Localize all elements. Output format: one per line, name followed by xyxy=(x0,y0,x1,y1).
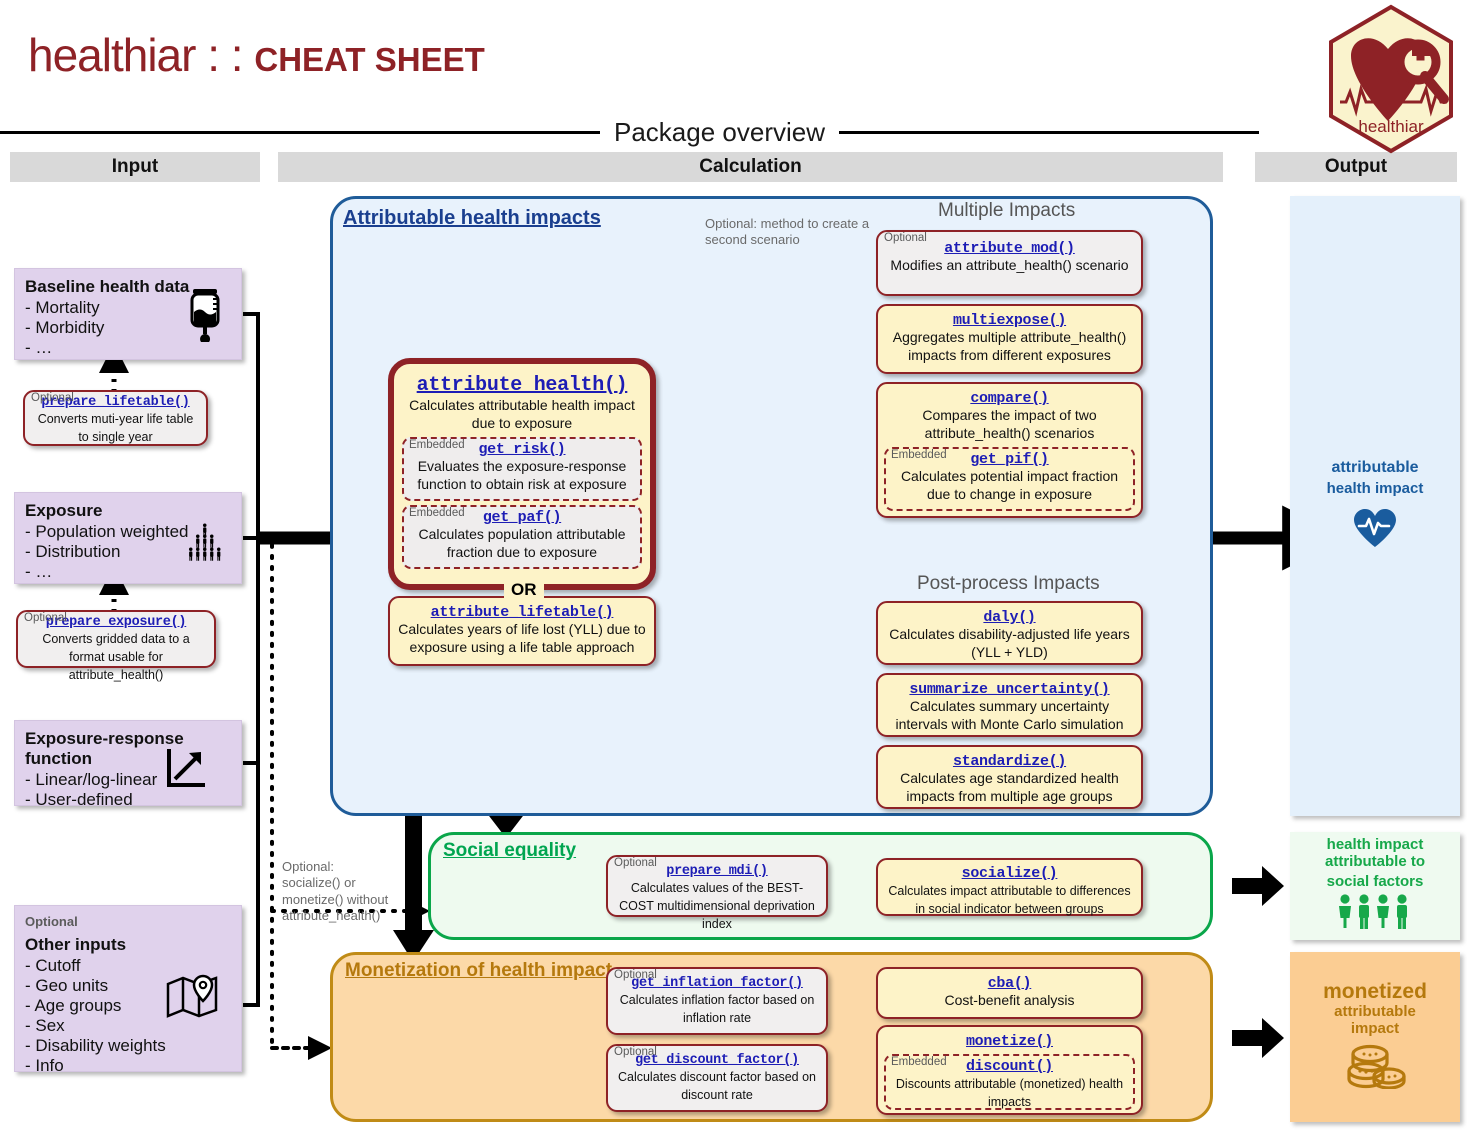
fn-compare[interactable]: compare() Compares the impact of two att… xyxy=(876,382,1143,518)
fn-desc: Calculates inflation factor based on inf… xyxy=(620,993,815,1025)
fn-desc: Calculates disability-adjusted life year… xyxy=(889,626,1129,660)
input-exposure[interactable]: Exposure - Population weighted - Distrib… xyxy=(14,492,242,584)
optional-tag: Optional xyxy=(884,233,927,245)
fn-name[interactable]: summarize_uncertainty() xyxy=(884,681,1135,698)
group-label-multiple-impacts: Multiple Impacts xyxy=(938,200,1075,222)
fn-desc: Converts gridded data to a format usable… xyxy=(42,632,189,682)
people-group-icon xyxy=(1336,894,1414,935)
fn-prepare-lifetable[interactable]: Optional prepare_lifetable() Converts mu… xyxy=(23,390,208,446)
fn-daly[interactable]: daly() Calculates disability-adjusted li… xyxy=(876,601,1143,665)
column-header-calculation: Calculation xyxy=(278,152,1223,182)
fn-discount[interactable]: Embedded discount() Discounts attributab… xyxy=(884,1054,1135,1110)
output-health-strong: health xyxy=(1327,480,1371,497)
list-item: - Disability weights xyxy=(25,1036,231,1056)
output-attributable-health-impact: attributable health impact xyxy=(1290,196,1460,816)
fn-get-paf[interactable]: Embedded get_paf() Calculates population… xyxy=(402,505,642,569)
output-social-factors: health impact attributable to social fac… xyxy=(1290,832,1460,940)
panel-title: Attributable health impacts xyxy=(343,207,601,230)
fn-name[interactable]: daly() xyxy=(884,609,1135,626)
optional-tag: Optional xyxy=(25,914,231,929)
rule-right xyxy=(839,131,1259,134)
fn-desc: Modifies an attribute_health() scenario xyxy=(890,257,1128,273)
fn-socialize[interactable]: socialize() Calculates impact attributab… xyxy=(876,858,1143,916)
population-pyramid-icon xyxy=(185,523,227,573)
fn-name[interactable]: standardize() xyxy=(884,753,1135,770)
panel-title: Social equality xyxy=(443,840,576,862)
fn-desc: Compares the impact of two attribute_hea… xyxy=(922,407,1096,441)
output-social-line3: social factors xyxy=(1327,870,1424,892)
fn-desc: Evaluates the exposure-response function… xyxy=(417,458,626,492)
output-money-line1: monetized xyxy=(1323,980,1427,1004)
output-health-line2: health impact xyxy=(1327,477,1424,499)
fn-name[interactable]: compare() xyxy=(884,390,1135,407)
fn-name[interactable]: socialize() xyxy=(884,865,1135,882)
fn-multiexpose[interactable]: multiexpose() Aggregates multiple attrib… xyxy=(876,304,1143,374)
list-item: - Info xyxy=(25,1056,231,1076)
fn-desc: Converts muti-year life table to single … xyxy=(38,412,194,444)
input-exposure-title: Exposure xyxy=(25,501,231,521)
logo-wordmark: healthiar xyxy=(1358,117,1424,136)
fn-desc: Calculates attributable health impact du… xyxy=(409,397,635,431)
fn-attribute-lifetable[interactable]: attribute_lifetable() Calculates years o… xyxy=(388,596,656,666)
fn-desc: Calculates values of the BEST-COST multi… xyxy=(619,881,815,931)
column-header-output-label: Output xyxy=(1325,156,1387,178)
input-other-inputs[interactable]: Optional Other inputs - Cutoff - Geo uni… xyxy=(14,905,242,1072)
optional-tag: Optional xyxy=(31,393,74,405)
fn-summarize-uncertainty[interactable]: summarize_uncertainty() Calculates summa… xyxy=(876,673,1143,737)
column-header-output: Output xyxy=(1255,152,1457,182)
optional-tag: Optional xyxy=(614,1047,657,1059)
fn-name[interactable]: multiexpose() xyxy=(884,312,1135,329)
fn-get-discount-factor[interactable]: Optional get_discount_factor() Calculate… xyxy=(606,1044,828,1112)
output-social-rest: factors xyxy=(1369,873,1423,890)
iv-bag-icon xyxy=(187,287,227,347)
output-health-line1: attributable xyxy=(1331,459,1418,477)
input-other-title: Other inputs xyxy=(25,935,231,955)
or-label: OR xyxy=(504,580,544,600)
fn-get-pif[interactable]: Embedded get_pif() Calculates potential … xyxy=(884,447,1135,511)
page-title: healthiar : : CHEAT SHEET xyxy=(28,28,485,82)
output-monetized-impact: monetized attributable impact xyxy=(1290,952,1460,1122)
package-overview-banner: Package overview xyxy=(0,110,1320,154)
output-health-rest: impact xyxy=(1371,480,1424,497)
fn-prepare-mdi[interactable]: Optional prepare_mdi() Calculates values… xyxy=(606,855,828,917)
embedded-tag: Embedded xyxy=(891,1056,947,1069)
fn-desc: Calculates summary uncertainty intervals… xyxy=(896,698,1124,732)
output-social-strong: social xyxy=(1327,873,1370,890)
fn-cba[interactable]: cba() Cost-benefit analysis xyxy=(876,967,1143,1019)
fn-desc: Cost-benefit analysis xyxy=(945,992,1075,1008)
brand-text: healthiar : : xyxy=(28,29,254,81)
fn-attribute-health[interactable]: attribute_health() Calculates attributab… xyxy=(388,358,656,590)
input-exposure-response-function[interactable]: Exposure-response function - Linear/log-… xyxy=(14,720,242,806)
optional-tag: Optional xyxy=(614,858,657,870)
chart-axis-icon xyxy=(163,745,209,796)
map-pin-icon xyxy=(165,974,221,1025)
fn-desc: Calculates years of life lost (YLL) due … xyxy=(398,621,645,655)
fn-name[interactable]: monetize() xyxy=(884,1033,1135,1050)
fn-desc: Calculates potential impact fraction due… xyxy=(901,468,1118,502)
note-bypass: Optional: socialize() or monetize() with… xyxy=(282,859,392,924)
fn-standardize[interactable]: standardize() Calculates age standardize… xyxy=(876,745,1143,809)
fn-desc: Calculates impact attributable to differ… xyxy=(888,884,1130,916)
rule-left xyxy=(0,131,600,134)
cheat-sheet-text: CHEAT SHEET xyxy=(254,41,484,78)
group-label-post-process: Post-process Impacts xyxy=(917,573,1100,595)
heart-pulse-icon xyxy=(1352,507,1398,554)
embedded-tag: Embedded xyxy=(891,449,947,462)
fn-get-inflation-factor[interactable]: Optional get_inflation_factor() Calculat… xyxy=(606,967,828,1035)
fn-desc: Calculates discount factor based on disc… xyxy=(618,1070,816,1102)
panel-title: Monetization of health impact xyxy=(345,960,612,982)
fn-desc: Calculates population attributable fract… xyxy=(418,526,625,560)
output-money-line2: attributable impact xyxy=(1320,1004,1430,1037)
embedded-tag: Embedded xyxy=(409,439,465,452)
fn-desc: Discounts attributable (monetized) healt… xyxy=(896,1077,1123,1109)
column-header-calculation-label: Calculation xyxy=(699,156,801,178)
fn-desc: Calculates age standardized health impac… xyxy=(900,770,1119,804)
embedded-tag: Embedded xyxy=(409,507,465,520)
column-header-input-label: Input xyxy=(112,156,158,178)
package-overview-label: Package overview xyxy=(614,117,825,148)
fn-prepare-exposure[interactable]: Optional prepare_exposure() Converts gri… xyxy=(16,610,216,668)
output-social-line2: attributable to xyxy=(1325,854,1425,871)
note-second-scenario: Optional: method to create a second scen… xyxy=(705,216,870,249)
coins-icon xyxy=(1344,1043,1406,1094)
input-baseline-health-data[interactable]: Baseline health data - Mortality - Morbi… xyxy=(14,268,242,360)
fn-name[interactable]: attribute_health() xyxy=(402,374,642,397)
fn-get-risk[interactable]: Embedded get_risk() Evaluates the exposu… xyxy=(402,437,642,501)
fn-attribute-mod[interactable]: Optional attribute_mod() Modifies an att… xyxy=(876,230,1143,296)
optional-tag: Optional xyxy=(24,613,67,625)
fn-name[interactable]: cba() xyxy=(884,975,1135,992)
healthiar-logo: healthiar xyxy=(1326,4,1456,154)
optional-tag: Optional xyxy=(614,970,657,982)
output-social-line1: health impact xyxy=(1327,837,1424,854)
fn-name[interactable]: attribute_lifetable() xyxy=(396,604,648,621)
fn-monetize[interactable]: monetize() Embedded discount() Discounts… xyxy=(876,1025,1143,1115)
fn-desc: Aggregates multiple attribute_health() i… xyxy=(893,329,1126,363)
column-header-input: Input xyxy=(10,152,260,182)
